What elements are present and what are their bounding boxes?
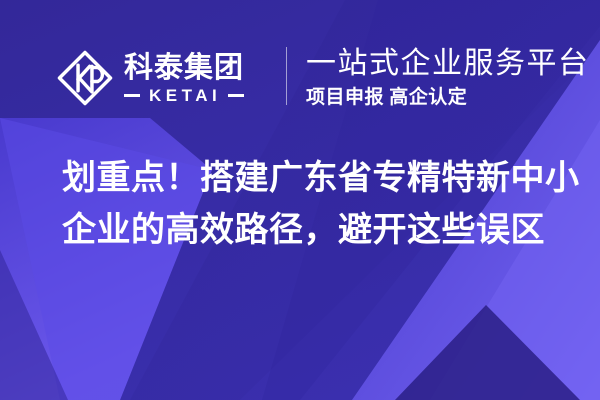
vertical-divider [286,47,287,105]
dash-icon [228,94,244,97]
brand-wordmark: 科泰集团 KETAI [124,52,244,103]
dash-icon [124,94,140,97]
tagline-main: 一站式企业服务平台 [306,47,590,82]
headline-block: 划重点！搭建广东省专精特新中小 企业的高效路径，避开这些误区 [62,152,562,256]
brand-name-cn: 科泰集团 [124,52,244,83]
promo-banner: 科泰集团 KETAI 一站式企业服务平台 项目申报 高企认定 划重点！搭建广东省… [0,0,600,400]
brand-lockup[interactable]: 科泰集团 KETAI [56,40,244,116]
tagline-sub: 项目申报 高企认定 [306,87,590,109]
headline-line-2: 企业的高效路径，避开这些误区 [62,204,562,256]
ketai-kp-diamond-icon [56,49,114,107]
background-triangle-bottom-right [395,305,580,400]
brand-name-latin: KETAI [140,87,228,104]
background-sliver-left [0,250,68,400]
headline-line-1: 划重点！搭建广东省专精特新中小 [62,152,562,204]
brand-name-latin-row: KETAI [124,87,244,104]
tagline-block: 一站式企业服务平台 项目申报 高企认定 [306,40,590,116]
